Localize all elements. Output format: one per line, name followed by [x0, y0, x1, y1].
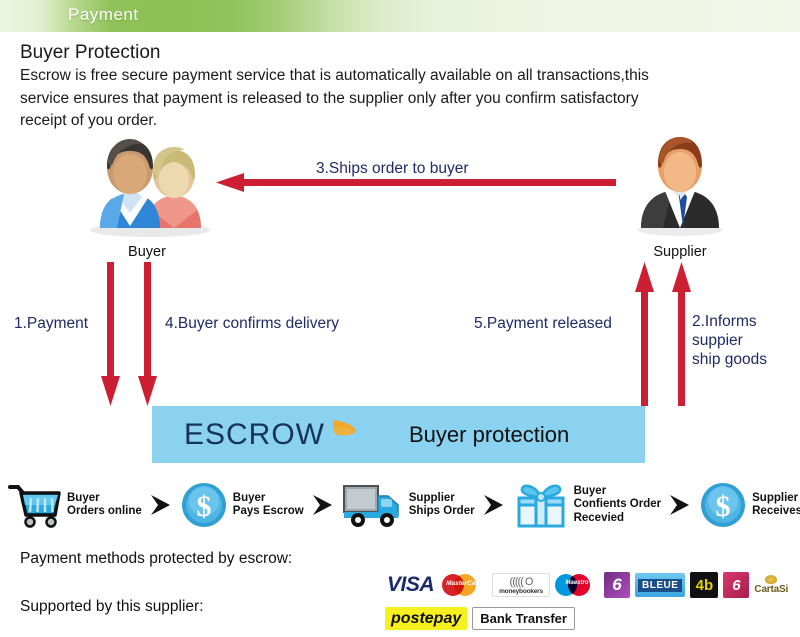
flow-line-2: Pays Escrow	[233, 505, 304, 519]
flow-line-1: Buyer	[233, 492, 304, 506]
payment-info-page: Payment Buyer Protection Escrow is free …	[0, 0, 800, 637]
chevron-right-icon	[310, 492, 336, 518]
gift-box-icon	[513, 480, 569, 530]
payment-released-up-arrow	[634, 262, 656, 406]
buyer-label: Buyer	[72, 244, 222, 260]
banner-title: Payment	[68, 5, 139, 25]
flow-line-1: Buyer	[67, 492, 142, 506]
svg-text:$: $	[196, 490, 211, 523]
chevron-right-icon	[481, 492, 507, 518]
flow-line-2: Orders online	[67, 505, 142, 519]
purple-card-logo: 6	[604, 572, 630, 598]
intro-block: Buyer Protection Escrow is free secure p…	[20, 41, 780, 133]
yellow-black-logo: 4b	[690, 572, 718, 598]
protected-methods-label: Payment methods protected by escrow:	[20, 550, 292, 568]
bank-transfer-logo: Bank Transfer	[472, 607, 575, 630]
dollar-circle-icon: $	[699, 481, 747, 529]
page-title: Buyer Protection	[20, 41, 780, 65]
chevron-right-icon	[148, 492, 174, 518]
delivery-truck-icon	[342, 482, 404, 528]
informs-line-2: suppier	[692, 331, 767, 350]
flow-step-text: Buyer Pays Escrow	[233, 492, 304, 519]
escrow-banner: ESCROW Buyer protection	[152, 406, 645, 463]
buyer-avatar-icon	[72, 130, 222, 238]
ships-order-label: 3.Ships order to buyer	[316, 159, 469, 178]
confirms-delivery-down-arrow	[137, 262, 159, 406]
mastercard-logo: MasterCard	[441, 572, 487, 598]
maestro-wordmark: Maestro	[555, 580, 599, 586]
supplier-label: Supplier	[630, 244, 730, 260]
postepay-logo: postepay	[385, 607, 467, 630]
step-4-confirms-delivery-label: 4.Buyer confirms delivery	[165, 314, 339, 333]
moneybookers-mark: ((((( O	[510, 576, 533, 588]
shopping-cart-icon	[8, 482, 62, 528]
flow-step-ships-order: Supplier Ships Order	[342, 482, 475, 528]
flow-line-2: Ships Order	[409, 505, 475, 519]
moneybookers-logo: ((((( O moneybookers	[492, 573, 550, 597]
informs-line-3: ship goods	[692, 350, 767, 369]
pink-six-logo: 6	[723, 572, 749, 598]
cartasi-logo: CartaSi	[754, 572, 788, 598]
escrow-tagline: Buyer protection	[409, 422, 569, 448]
flow-step-confirms-received: Buyer Confients Order Recevied	[513, 480, 662, 530]
payment-logos-row-1: VISA MasterCard ((((( O moneybookers Mae…	[385, 572, 788, 598]
flow-line-2: Confients Order	[574, 498, 662, 512]
supplier-avatar-icon	[630, 128, 730, 238]
moneybookers-wordmark: moneybookers	[499, 588, 543, 595]
flow-step-text: Buyer Confients Order Recevied	[574, 485, 662, 526]
payment-banner: Payment	[0, 0, 800, 32]
intro-line-1: Escrow is free secure payment service th…	[20, 65, 780, 88]
step-1-payment-label: 1.Payment	[14, 314, 88, 333]
informs-supplier-up-arrow	[671, 262, 693, 406]
mastercard-wordmark: MasterCard	[441, 580, 487, 587]
cartasi-mark-icon	[765, 575, 777, 584]
escrow-flow-strip: Buyer Orders online $ Buyer Pays Escrow	[8, 476, 798, 534]
visa-logo: VISA	[385, 572, 436, 598]
escrow-wordmark: ESCROW	[184, 418, 325, 452]
flow-line-1: Supplier	[752, 492, 800, 506]
flow-line-2: Receives Payment	[752, 505, 800, 519]
cartebleue-logo: BLEUE	[635, 573, 685, 597]
flow-step-text: Supplier Receives Payment	[752, 492, 800, 519]
bleue-wordmark: BLEUE	[638, 579, 682, 592]
intro-line-2: service ensures that payment is released…	[20, 88, 780, 111]
buyer-figure: Buyer	[72, 130, 222, 260]
dollar-circle-icon: $	[180, 481, 228, 529]
flow-step-orders-online: Buyer Orders online	[8, 482, 142, 528]
flow-step-text: Supplier Ships Order	[409, 492, 475, 519]
payment-logos-row-2: postepay Bank Transfer	[385, 607, 575, 630]
flow-step-receives-payment: $ Supplier Receives Payment	[699, 481, 800, 529]
supplier-figure: Supplier	[630, 128, 730, 260]
flow-step-pays-escrow: $ Buyer Pays Escrow	[180, 481, 304, 529]
informs-line-1: 2.Informs	[692, 312, 767, 331]
step-2-informs-supplier-label: 2.Informs suppier ship goods	[692, 312, 767, 369]
payment-down-arrow	[100, 262, 122, 406]
flow-line-3: Recevied	[574, 512, 662, 526]
cartasi-wordmark: CartaSi	[754, 584, 788, 595]
flow-line-1: Supplier	[409, 492, 475, 506]
svg-text:$: $	[716, 490, 731, 523]
chevron-right-icon	[667, 492, 693, 518]
maestro-logo: Maestro	[555, 572, 599, 598]
step-5-payment-released-label: 5.Payment released	[474, 314, 612, 333]
flow-step-text: Buyer Orders online	[67, 492, 142, 519]
escrow-swoosh-icon	[329, 416, 359, 446]
supported-by-supplier-label: Supported by this supplier:	[20, 598, 204, 616]
flow-line-1: Buyer	[574, 485, 662, 499]
